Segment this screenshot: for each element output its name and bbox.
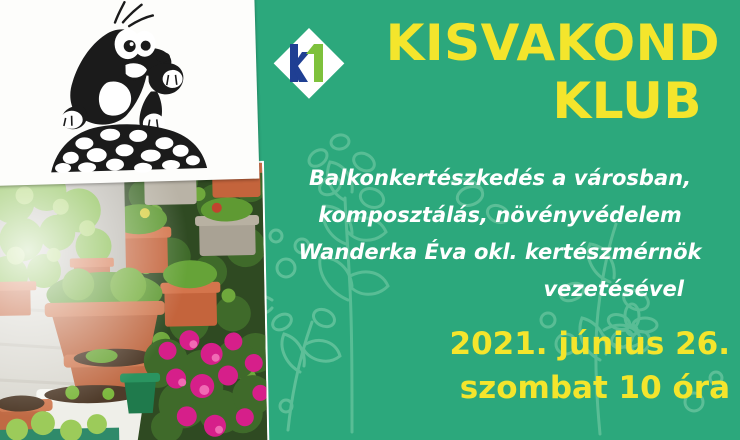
mole-illustration	[18, 0, 231, 179]
subtitle-line-4: vezetésével	[270, 271, 730, 308]
subtitle-line-1: Balkonkertészkedés a városban,	[270, 160, 730, 197]
page-title: KISVAKOND KLUB	[362, 14, 726, 130]
event-time: szombat 10 óra	[450, 366, 730, 410]
brand-lockup: KISVAKOND KLUB	[266, 18, 726, 130]
subtitle-block: Balkonkertészkedés a városban, komposztá…	[270, 160, 730, 308]
event-date: 2021. június 26.	[450, 322, 730, 366]
subtitle-line-2: komposztálás, növényvédelem	[270, 197, 730, 234]
poster-root: KISVAKOND KLUB Balkonkertészkedés a váro…	[0, 0, 740, 440]
content-column: KISVAKOND KLUB Balkonkertészkedés a váro…	[262, 0, 740, 440]
subtitle-line-3: Wanderka Éva okl. kertészmérnök	[270, 234, 730, 271]
event-datetime: 2021. június 26. szombat 10 óra	[450, 322, 730, 410]
mole-illustration-card	[0, 0, 259, 186]
k1-logo-icon	[272, 26, 346, 100]
balcony-garden-photo	[0, 163, 267, 440]
title-line-2: KLUB	[362, 72, 726, 130]
imagery-column	[0, 0, 262, 440]
title-line-1: KISVAKOND	[362, 14, 726, 72]
